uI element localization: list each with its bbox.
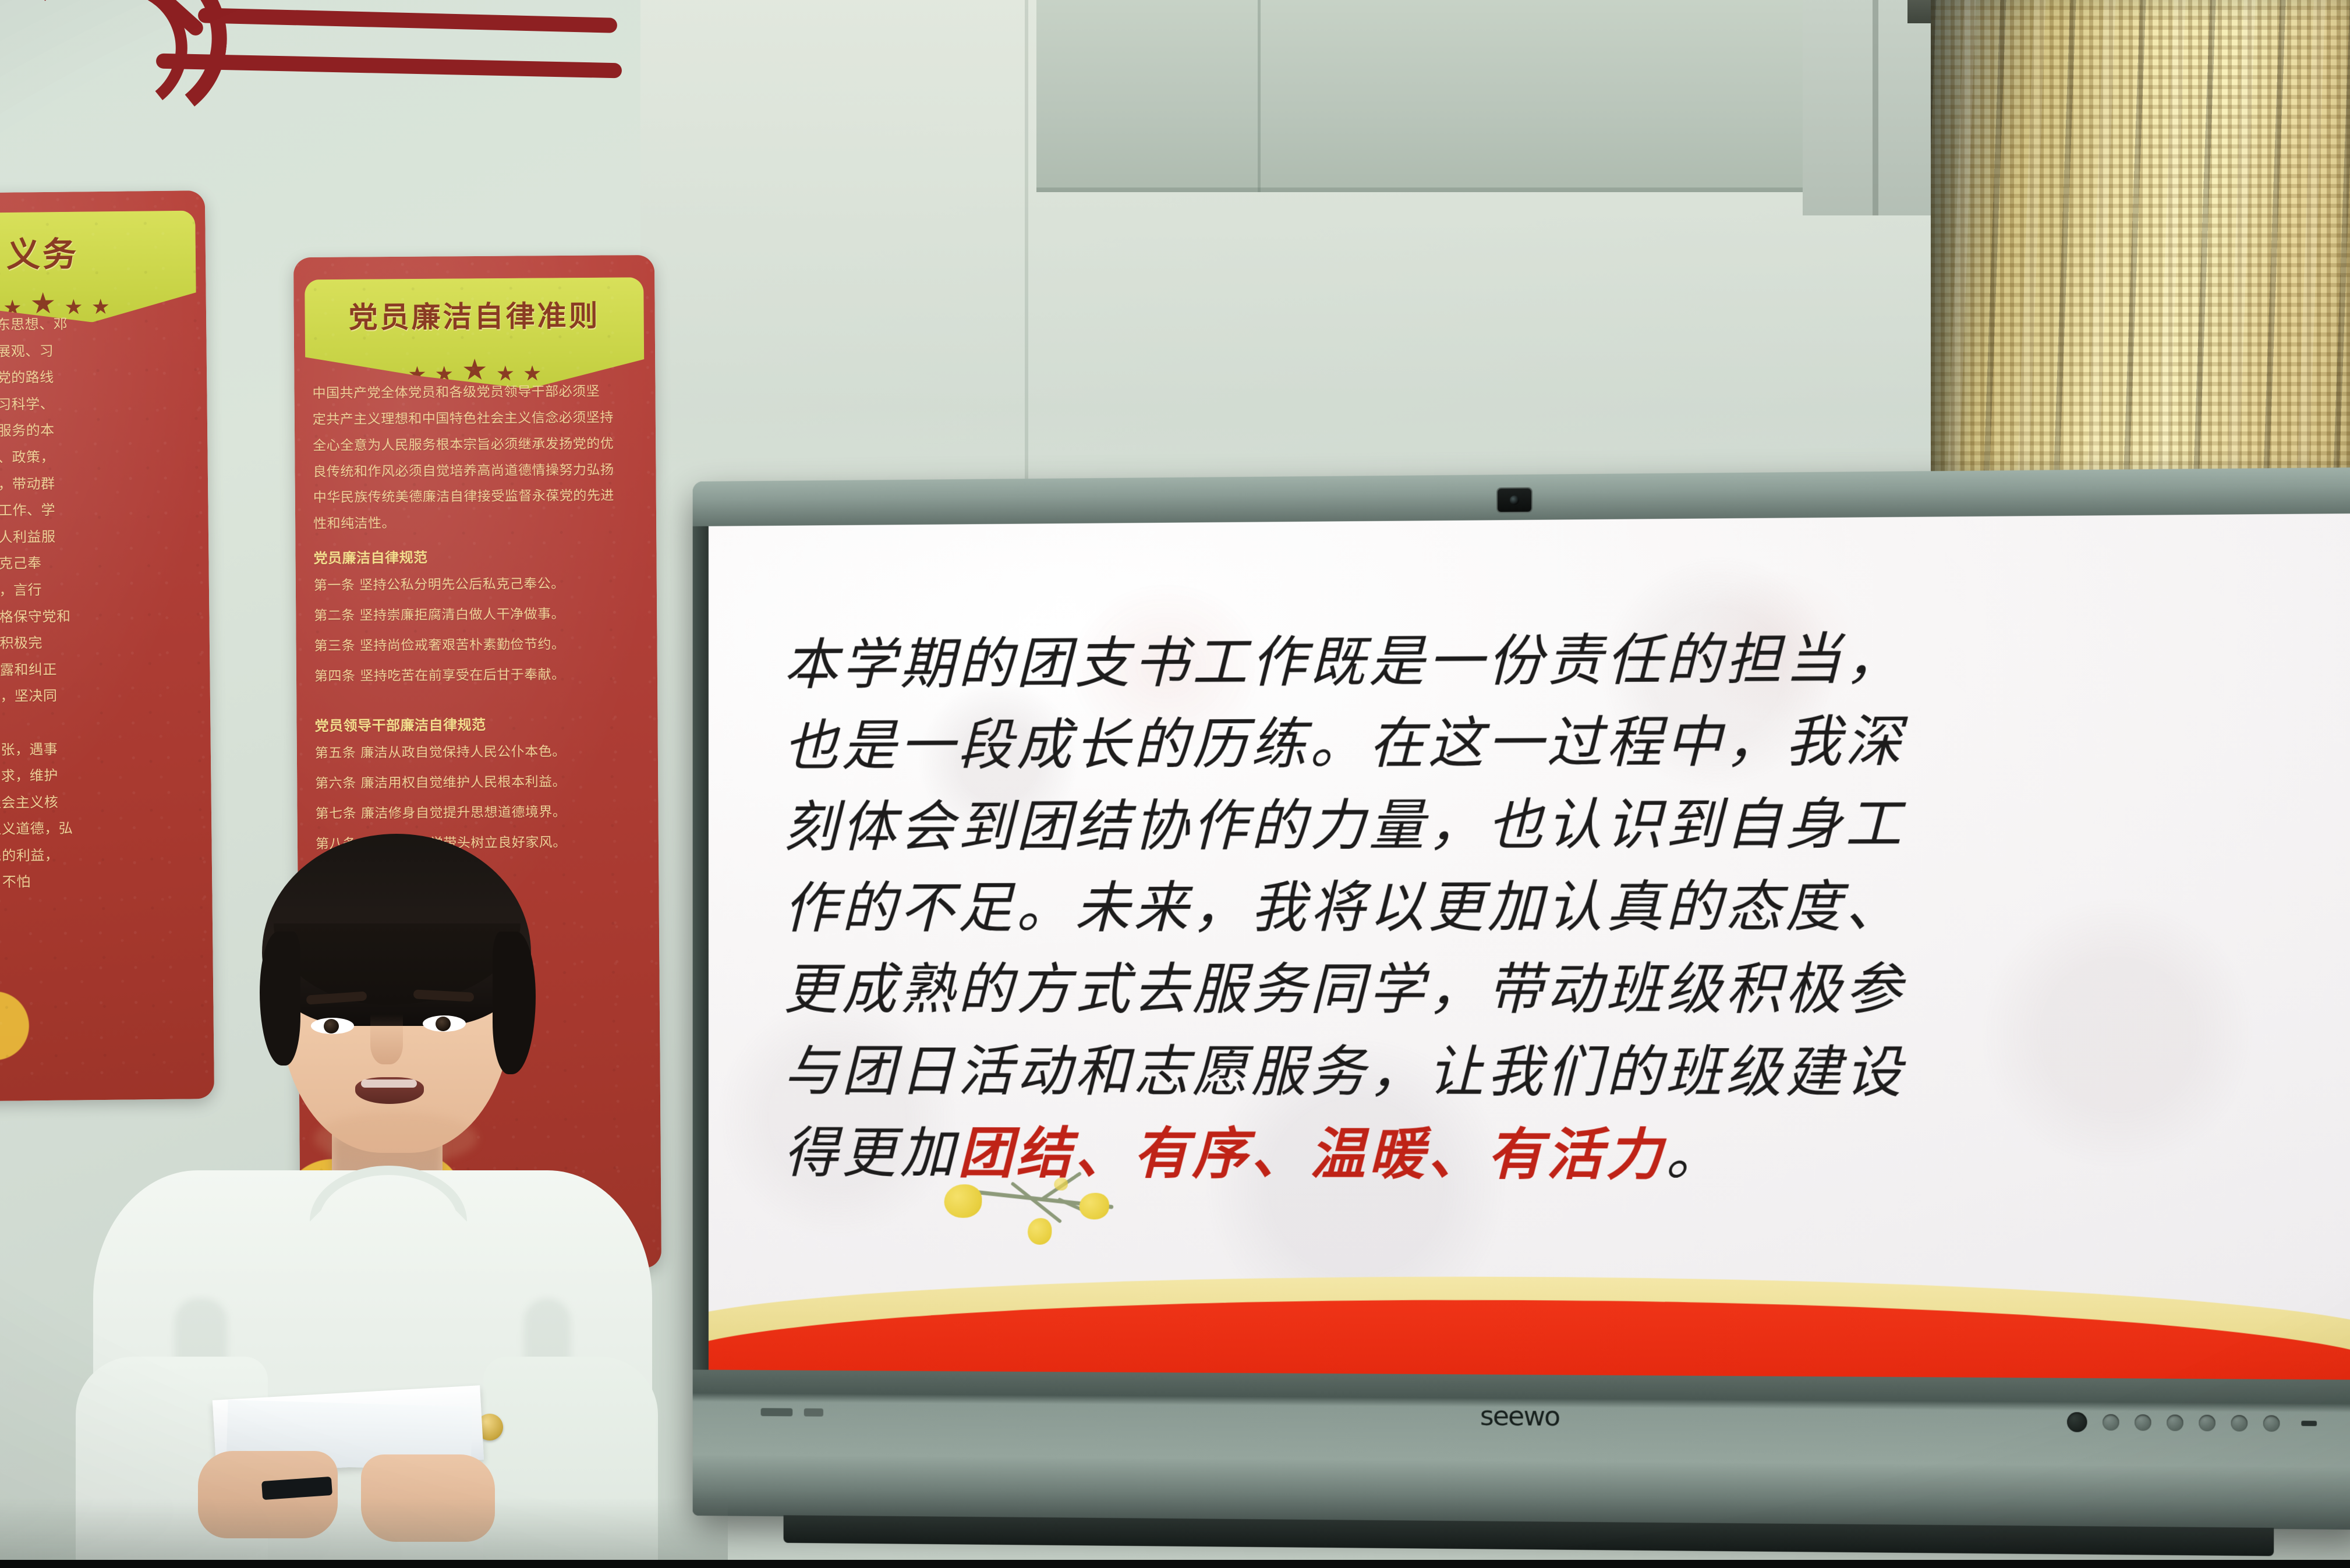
wall-seam-vertical bbox=[1025, 0, 1028, 483]
slide-flower-decoration bbox=[936, 1160, 1154, 1265]
display-port-left[interactable] bbox=[761, 1408, 793, 1416]
display-bezel-left bbox=[693, 526, 709, 1429]
display-screen[interactable]: 本学期的团支书工作既是一份责任的担当， 也是一段成长的历练。在这一过程中，我深 … bbox=[709, 514, 2350, 1380]
poster-duty-cloud-ornament bbox=[0, 967, 75, 1102]
poster-duty-title: 义务 bbox=[6, 227, 79, 277]
slide-final-suffix: 。 bbox=[1666, 1122, 1726, 1188]
presenter-hair-side-right bbox=[493, 932, 536, 1074]
slide-line-3: 刻体会到团结协作的力量，也认识到自身工 bbox=[784, 782, 2295, 868]
ceiling-beam-line-2 bbox=[1258, 0, 1261, 192]
slide-line-6: 与团日活动和志愿服务，让我们的班级建设 bbox=[784, 1031, 2295, 1114]
photo-bottom-edge bbox=[0, 1560, 2350, 1568]
slide-line-5: 更成熟的方式去服务同学，带动班级积极参 bbox=[784, 948, 2295, 1031]
poster-integrity-clause-1-4: 第四条 坚持吃苦在前享受在后甘于奉献。 bbox=[314, 663, 643, 688]
display-camera-icon bbox=[1496, 487, 1533, 513]
source-button[interactable] bbox=[2231, 1415, 2248, 1432]
poster-integrity-clause-2-1: 第五条 廉洁从政自觉保持人民公仆本色。 bbox=[315, 739, 643, 765]
flower-bloom-1 bbox=[944, 1184, 982, 1218]
presenter-hair-side-left bbox=[260, 932, 300, 1066]
floor-shadow bbox=[0, 1498, 728, 1568]
display-bezel-bottom: seewo bbox=[693, 1369, 2350, 1530]
display-port-left-2[interactable] bbox=[804, 1408, 823, 1417]
menu-button[interactable] bbox=[2135, 1414, 2151, 1431]
volume-down-button[interactable] bbox=[2167, 1414, 2183, 1431]
presenter-nose bbox=[370, 1014, 403, 1064]
presenter-eye-left bbox=[311, 1018, 354, 1034]
flower-bloom-2 bbox=[1080, 1193, 1109, 1220]
poster-integrity-clause-1-2: 第二条 坚持崇廉拒腐清白做人干净做事。 bbox=[314, 602, 642, 628]
flower-bloom-4 bbox=[1054, 1178, 1068, 1191]
poster-integrity-title: 党员廉洁自律准则 bbox=[348, 293, 600, 337]
presenter-eye-right bbox=[423, 1015, 466, 1032]
poster-integrity-clause-1-3: 第三条 坚持尚俭戒奢艰苦朴素勤俭节约。 bbox=[314, 632, 642, 658]
slide-line-4: 作的不足。未来，我将以更加认真的态度、 bbox=[784, 865, 2295, 949]
power-button[interactable] bbox=[2067, 1412, 2087, 1432]
presentation-slide: 本学期的团支书工作既是一份责任的担当， 也是一段成长的历练。在这一过程中，我深 … bbox=[709, 514, 2350, 1380]
slide-final-prefix: 得更加 bbox=[784, 1120, 958, 1185]
home-button[interactable] bbox=[2103, 1414, 2119, 1431]
poster-integrity-section-1-title: 党员廉洁自律规范 bbox=[313, 544, 642, 571]
poster-integrity-intro: 中国共产党全体党员和各级党员领导干部必须坚 定共产主义理想和中国特色社会主义信念… bbox=[312, 378, 642, 537]
smart-display[interactable]: 本学期的团支书工作既是一份责任的担当， 也是一段成长的历练。在这一过程中，我深 … bbox=[693, 468, 2350, 1530]
presenter-mouth bbox=[355, 1077, 424, 1104]
poster-integrity-section-2-title: 党员领导干部廉洁自律规范 bbox=[314, 712, 643, 738]
slide-bottom-band bbox=[709, 1249, 2350, 1379]
slide-body-text: 本学期的团支书工作既是一份责任的担当， 也是一段成长的历练。在这一过程中，我深 … bbox=[784, 615, 2295, 1198]
display-button-row[interactable] bbox=[2067, 1412, 2280, 1434]
presenter-chin-shadow bbox=[314, 1112, 477, 1165]
presenter bbox=[82, 786, 664, 1568]
ir-receiver-icon bbox=[2301, 1421, 2317, 1426]
poster-duty-header: 义务 ★ ★ ★ ★ ★ bbox=[0, 211, 196, 325]
display-brand-logo: seewo bbox=[1480, 1400, 1559, 1432]
settings-button[interactable] bbox=[2263, 1415, 2280, 1432]
window-curtain bbox=[1931, 0, 2350, 495]
volume-up-button[interactable] bbox=[2199, 1415, 2215, 1432]
poster-integrity-header: 党员廉洁自律准则 ★ ★ ★ ★ ★ bbox=[305, 277, 645, 390]
slide-line-1: 本学期的团支书工作既是一份责任的担当， bbox=[784, 615, 2295, 706]
curtain-folds bbox=[1931, 0, 2350, 495]
slide-line-2: 也是一段成长的历练。在这一过程中，我深 bbox=[784, 699, 2295, 787]
poster-integrity-clause-1-1: 第一条 坚持公私分明先公后私克己奉公。 bbox=[314, 572, 642, 597]
flower-bloom-3 bbox=[1028, 1218, 1052, 1245]
classroom-photo-scene: 义务 ★ ★ ★ ★ ★ 列宁主义、毛泽东思想、邓 要思想、科学发展观、习 主义… bbox=[0, 0, 2350, 1568]
window-mullion bbox=[1873, 0, 1878, 215]
